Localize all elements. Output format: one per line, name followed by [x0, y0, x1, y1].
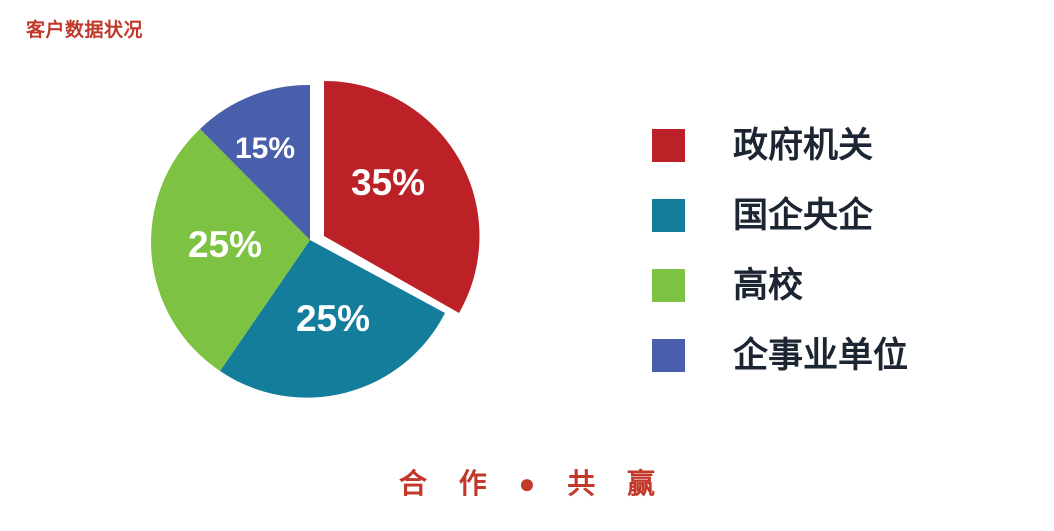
page-title: 客户数据状况	[26, 20, 143, 43]
legend-swatch-government	[652, 129, 685, 162]
pie-label-university: 25%	[188, 224, 262, 265]
pie-label-soe: 25%	[296, 298, 370, 339]
legend-label-university: 高校	[733, 268, 803, 303]
footer-slogan: 合 作 ● 共 赢	[0, 462, 1054, 502]
pie-chart: 35% 25% 25% 15%	[145, 75, 490, 405]
slide-canvas: 客户数据状况 35% 25% 25% 15% 政府机关 国企央企 高	[0, 0, 1054, 531]
legend-label-government: 政府机关	[733, 128, 873, 163]
pie-label-government: 35%	[351, 162, 425, 203]
chart-legend: 政府机关 国企央企 高校 企事业单位	[652, 110, 982, 390]
legend-item-soe[interactable]: 国企央企	[652, 180, 982, 250]
pie-label-enterprise: 15%	[235, 132, 295, 165]
legend-item-enterprise[interactable]: 企事业单位	[652, 320, 982, 390]
legend-swatch-soe	[652, 199, 685, 232]
legend-item-government[interactable]: 政府机关	[652, 110, 982, 180]
legend-label-enterprise: 企事业单位	[733, 338, 908, 373]
legend-swatch-university	[652, 269, 685, 302]
legend-label-soe: 国企央企	[733, 198, 873, 233]
pie-chart-svg: 35% 25% 25% 15%	[145, 75, 490, 405]
legend-swatch-enterprise	[652, 339, 685, 372]
legend-item-university[interactable]: 高校	[652, 250, 982, 320]
